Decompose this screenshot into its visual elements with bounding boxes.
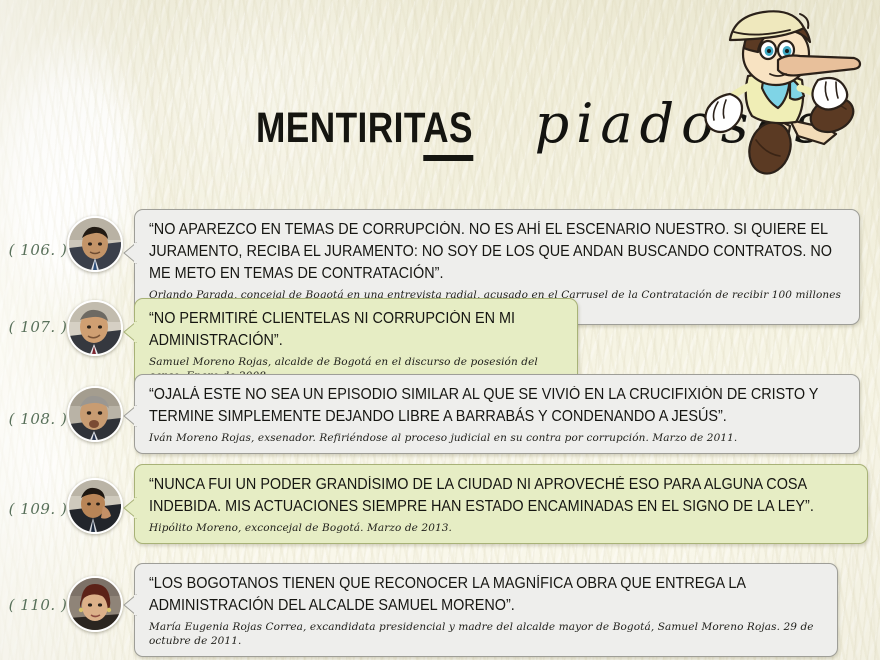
quote-text: “NO APAREZCO EN TEMAS DE CORRUPCIÓN. NO …: [149, 219, 845, 285]
quote-text: “OJALÁ ESTE NO SEA UN EPISODIO SIMILAR A…: [149, 384, 845, 428]
avatar: [67, 216, 123, 272]
entry-number: ( 107. ): [8, 318, 68, 336]
title-as-underlined: AS: [423, 104, 473, 161]
pinocchio-icon: [686, 8, 880, 186]
avatar: [67, 576, 123, 632]
quote-attribution: Hipólito Moreno, exconcejal de Bogotá. M…: [149, 521, 853, 535]
bubble-tail-icon: [123, 242, 137, 264]
entry-number: ( 106. ): [8, 241, 68, 259]
quote-attribution: Iván Moreno Rojas, exsenador. Refiriéndo…: [149, 431, 845, 445]
quote-card: “LOS BOGOTANOS TIENEN QUE RECONOCER LA M…: [134, 563, 838, 657]
bubble-tail-icon: [123, 321, 137, 343]
page-header: MENTIRITASpiadosas: [0, 0, 880, 196]
title-mentirit: MENTIRIT: [256, 104, 423, 152]
avatar: [67, 386, 123, 442]
bubble-tail-icon: [123, 497, 137, 519]
quote-text: “LOS BOGOTANOS TIENEN QUE RECONOCER LA M…: [149, 573, 823, 617]
bubble-tail-icon: [123, 405, 137, 427]
quote-card: “NUNCA FUI UN PODER GRANDÍSIMO DE LA CIU…: [134, 464, 868, 544]
bubble-tail-icon: [123, 594, 137, 616]
entry-number: ( 108. ): [8, 410, 68, 428]
quote-attribution: María Eugenia Rojas Correa, excandidata …: [149, 620, 823, 648]
entry-number: ( 109. ): [8, 500, 68, 518]
title-word-mentiritas: MENTIRITAS: [256, 104, 473, 153]
entry-number: ( 110. ): [8, 596, 68, 614]
quote-text: “NUNCA FUI UN PODER GRANDÍSIMO DE LA CIU…: [149, 474, 853, 518]
quote-card: “OJALÁ ESTE NO SEA UN EPISODIO SIMILAR A…: [134, 374, 860, 454]
avatar: [67, 478, 123, 534]
quote-text: “NO PERMITIRÉ CLIENTELAS NI CORRUPCIÓN E…: [149, 308, 563, 352]
avatar: [67, 300, 123, 356]
